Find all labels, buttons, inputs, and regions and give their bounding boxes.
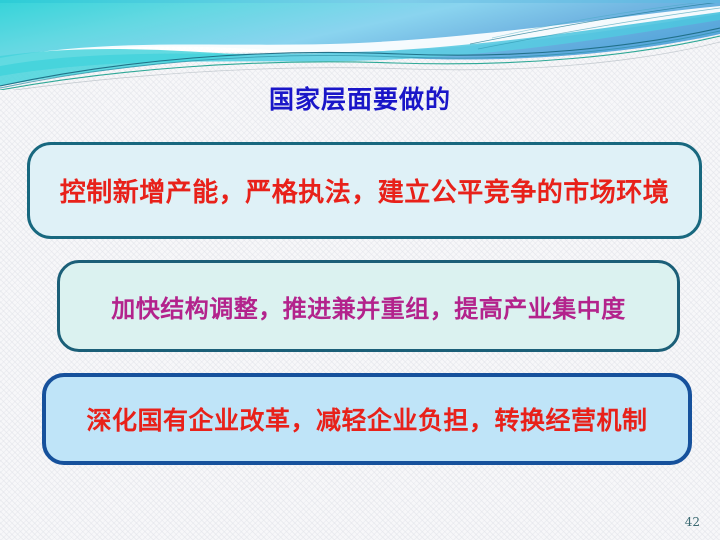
- callout-box-2: 加快结构调整，推进兼并重组，提高产业集中度: [57, 260, 680, 352]
- callout-text-3: 深化国有企业改革，减轻企业负担，转换经营机制: [86, 401, 647, 437]
- callout-box-1: 控制新增产能，严格执法，建立公平竞争的市场环境: [27, 142, 702, 239]
- callout-text-2: 加快结构调整，推进兼并重组，提高产业集中度: [111, 289, 626, 324]
- page-title: 国家层面要做的: [0, 80, 720, 116]
- presentation-slide: 国家层面要做的 控制新增产能，严格执法，建立公平竞争的市场环境 加快结构调整，推…: [0, 0, 720, 540]
- page-number: 42: [685, 515, 700, 529]
- callout-text-1: 控制新增产能，严格执法，建立公平竞争的市场环境: [60, 172, 670, 209]
- callout-box-3: 深化国有企业改革，减轻企业负担，转换经营机制: [42, 373, 692, 465]
- wave-banner-decoration: [0, 0, 720, 90]
